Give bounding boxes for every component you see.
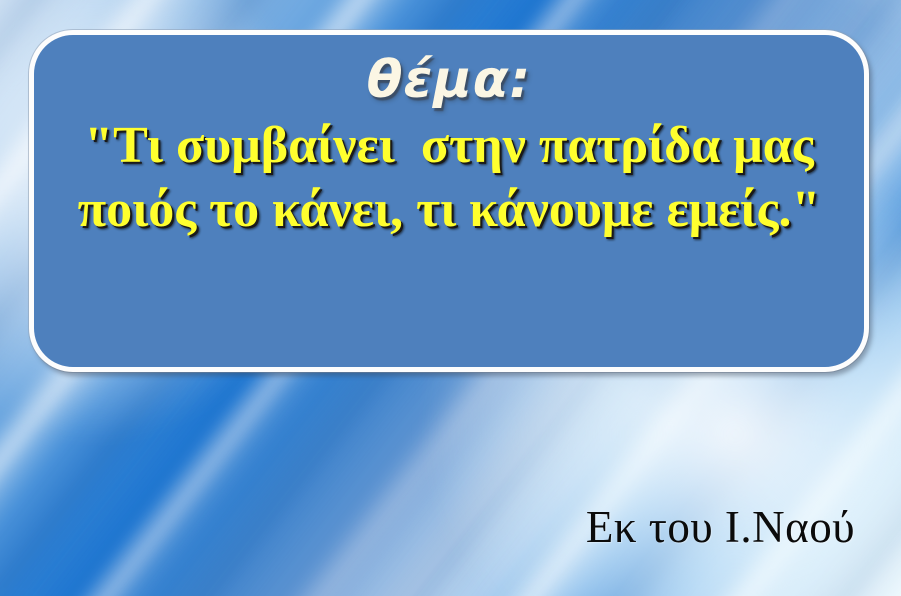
topic-heading: θέμα: <box>367 53 531 107</box>
topic-quote-line-2: ποιός το κάνει, τι κάνουμε εμείς." <box>72 177 827 243</box>
topic-quote-line-1: "Τι συμβαίνει στην πατρίδα μας <box>78 113 820 179</box>
slide-canvas: θέμα: "Τι συμβαίνει στην πατρίδα μας ποι… <box>0 0 901 596</box>
topic-callout-box: θέμα: "Τι συμβαίνει στην πατρίδα μας ποι… <box>29 30 869 372</box>
signature-text: Εκ του Ι.Ναού <box>586 503 855 553</box>
